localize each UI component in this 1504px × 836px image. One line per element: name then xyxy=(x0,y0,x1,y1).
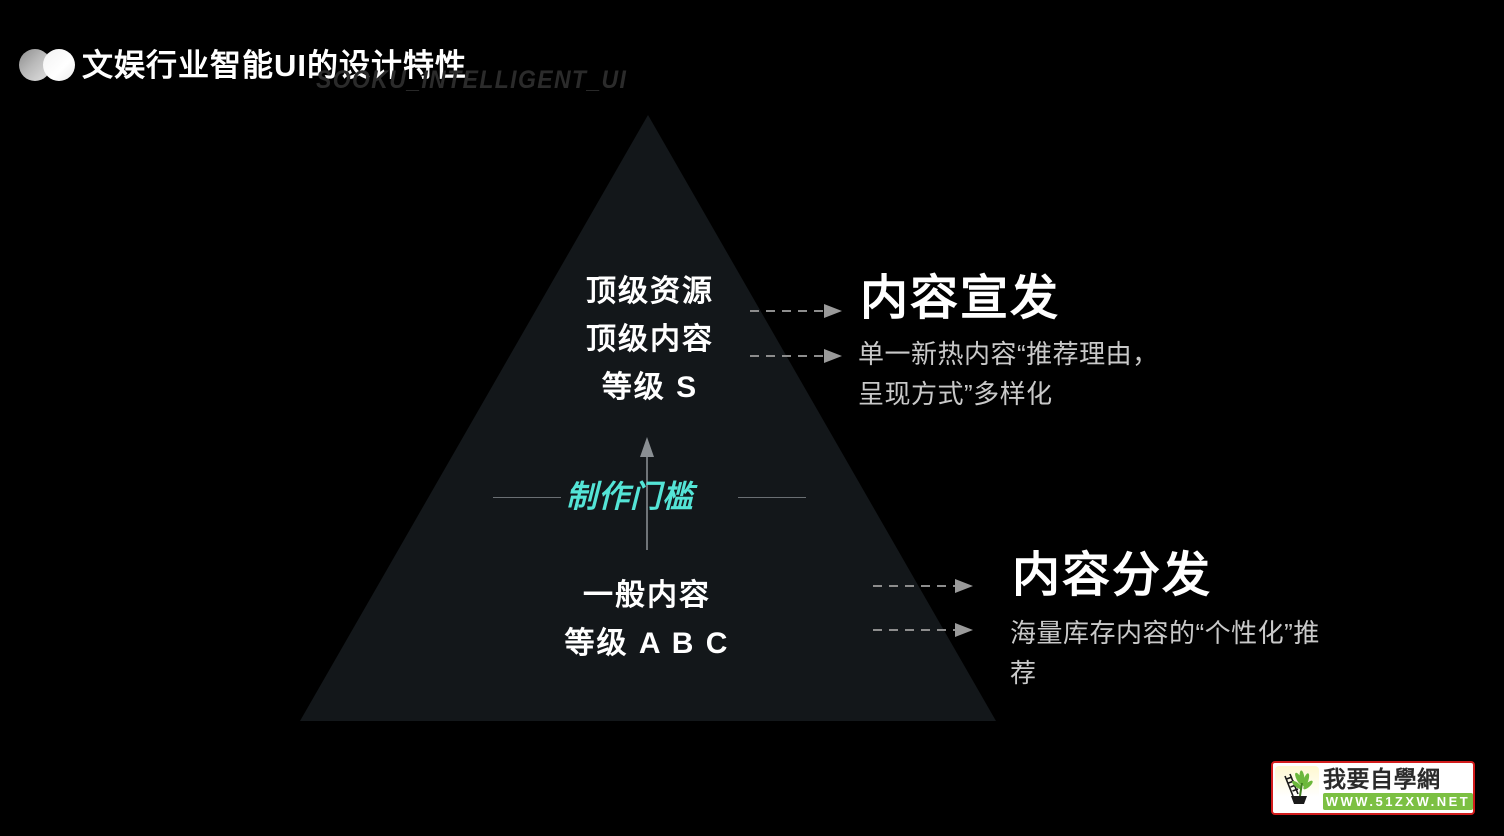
callout-body-content-distribution: 海量库存内容的“个性化”推荐 xyxy=(1010,613,1330,693)
slide-header: 文娱行业智能UI的设计特性 SOOKU_INTELLIGENT_UI xyxy=(0,0,1504,110)
site-logo-text-block: 我要自學網 WWW.51ZXW.NET xyxy=(1319,767,1473,810)
brand-dot-right-icon xyxy=(43,49,75,81)
callout-heading-content-distribution: 内容分发 xyxy=(1012,535,1212,605)
connector-arrow-bottom-1 xyxy=(873,579,973,593)
brand-mark xyxy=(19,49,75,81)
top-tier-line-3: 等级 S xyxy=(497,364,803,412)
watermark-text: SOOKU_INTELLIGENT_UI xyxy=(316,66,627,95)
bottom-tier-line-2: 等级 A B C xyxy=(494,620,800,668)
threshold-label: 制作门槛 xyxy=(566,471,694,516)
connector-arrow-bottom-2 xyxy=(873,623,973,637)
site-logo-badge[interactable]: 我要自學網 WWW.51ZXW.NET xyxy=(1271,761,1475,815)
site-logo-name: 我要自學網 xyxy=(1323,767,1473,792)
callout-body-content-promotion: 单一新热内容“推荐理由，呈现方式”多样化 xyxy=(858,334,1168,414)
slide-canvas: 文娱行业智能UI的设计特性 SOOKU_INTELLIGENT_UI 顶级资源 … xyxy=(0,0,1504,836)
site-logo-url: WWW.51ZXW.NET xyxy=(1323,793,1473,810)
bottom-tier-line-1: 一般内容 xyxy=(494,572,800,620)
ladder-plant-icon xyxy=(1275,766,1319,810)
connector-arrow-top-2 xyxy=(750,349,842,363)
connector-arrow-top-1 xyxy=(750,304,842,318)
pyramid-top-tier-labels: 顶级资源 顶级内容 等级 S xyxy=(497,268,803,412)
pyramid-bottom-tier-labels: 一般内容 等级 A B C xyxy=(494,572,800,668)
callout-heading-content-promotion: 内容宣发 xyxy=(860,258,1060,328)
threshold-divider-group: 制作门槛 xyxy=(480,435,820,555)
